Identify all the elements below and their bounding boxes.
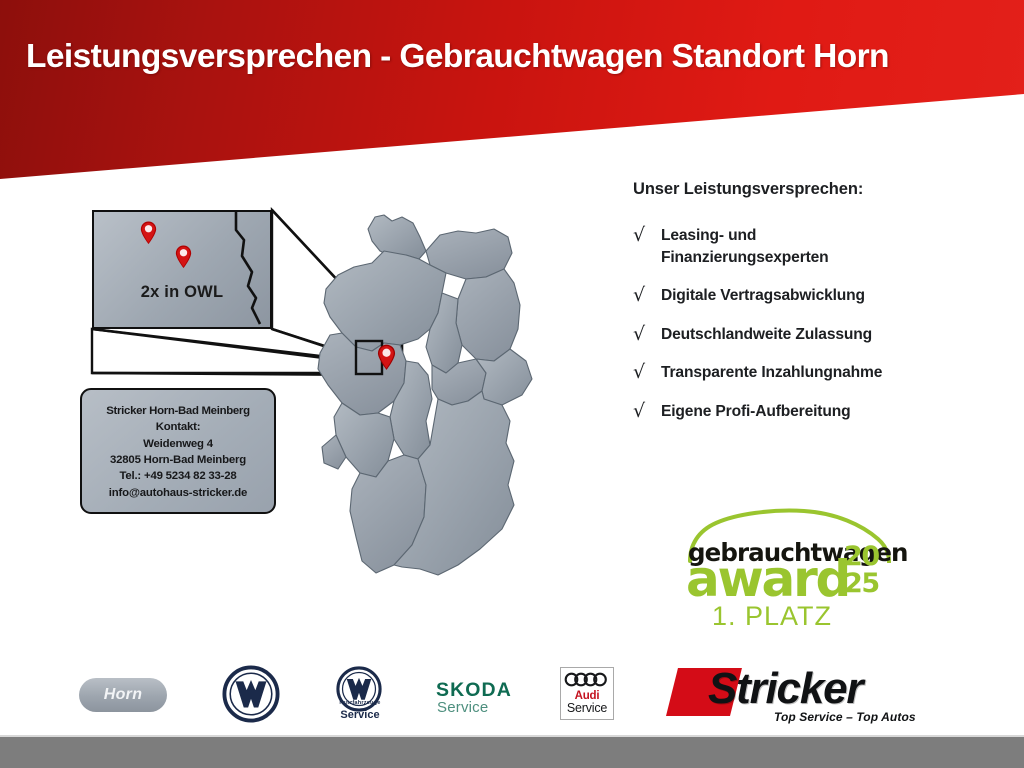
contact-line: Weidenweg 4 [143, 436, 213, 452]
audi-rings-icon [564, 672, 610, 687]
contact-line: Stricker Horn-Bad Meinberg [106, 403, 249, 419]
list-item-label: Leasing- und Finanzierungsexperten [661, 225, 829, 268]
award-year-top: 20 [844, 543, 892, 570]
header-banner [0, 0, 1024, 180]
horn-logo-label: Horn [104, 686, 143, 704]
award-logo: gebrauchtwagen award 20 25 1. PLATZ [684, 505, 894, 630]
contact-info-box: Stricker Horn-Bad Meinberg Kontakt: Weid… [80, 388, 276, 514]
list-item-line: Finanzierungsexperten [661, 247, 829, 269]
list-item: √ Digitale Vertragsabwicklung [633, 285, 1003, 307]
owl-inset-label: 2x in OWL [92, 283, 272, 302]
list-item-line: Leasing- und [661, 225, 829, 247]
contact-email: info@autohaus-stricker.de [109, 485, 247, 501]
vw-service-label: Service [318, 709, 402, 721]
award-year-bottom: 25 [844, 570, 892, 597]
check-icon: √ [633, 285, 661, 305]
footer-bar [0, 737, 1024, 768]
list-item-label: Digitale Vertragsabwicklung [661, 285, 865, 307]
promise-list-heading: Unser Leistungsversprechen: [633, 180, 863, 199]
stricker-logo-label: Stricker [708, 664, 862, 714]
check-icon: √ [633, 362, 661, 382]
contact-line: Tel.: +49 5234 82 33-28 [119, 468, 236, 484]
check-icon: √ [633, 225, 661, 245]
map-pin-icon [377, 344, 396, 371]
page-title: Leistungsversprechen - Gebrauchtwagen St… [26, 38, 1006, 76]
slide-canvas: Leistungsversprechen - Gebrauchtwagen St… [0, 0, 1024, 768]
vw-nutzfahrzeuge-label: Nutzfahrzeuge [318, 700, 402, 706]
audi-service-label: Service [560, 701, 614, 715]
check-icon: √ [633, 401, 661, 421]
contact-line: 32805 Horn-Bad Meinberg [110, 452, 246, 468]
germany-map [280, 193, 580, 633]
award-word-main: award [686, 553, 849, 605]
contact-line: Kontakt: [156, 419, 201, 435]
check-icon: √ [633, 324, 661, 344]
owl-inset-border-shape [230, 212, 274, 327]
award-rank: 1. PLATZ [712, 601, 832, 632]
stricker-tagline: Top Service – Top Autos [774, 710, 916, 724]
map-pin-icon [140, 221, 157, 245]
list-item: √ Transparente Inzahlungnahme [633, 362, 1003, 384]
award-year: 20 25 [844, 543, 892, 597]
stricker-logo: Stricker Top Service – Top Autos [672, 662, 952, 724]
skoda-service-label: Service [437, 699, 488, 716]
list-item-label: Deutschlandweite Zulassung [661, 324, 872, 346]
list-item: √ Deutschlandweite Zulassung [633, 324, 1003, 346]
list-item: √ Eigene Profi-Aufbereitung [633, 401, 1003, 423]
list-item-label: Eigene Profi-Aufbereitung [661, 401, 850, 423]
promise-list: √ Leasing- und Finanzierungsexperten √ D… [633, 225, 1003, 439]
list-item-label: Transparente Inzahlungnahme [661, 362, 882, 384]
list-item: √ Leasing- und Finanzierungsexperten [633, 225, 1003, 268]
vw-roundel-icon [222, 665, 280, 723]
map-pin-icon [175, 245, 192, 269]
horn-logo: Horn [79, 678, 167, 712]
